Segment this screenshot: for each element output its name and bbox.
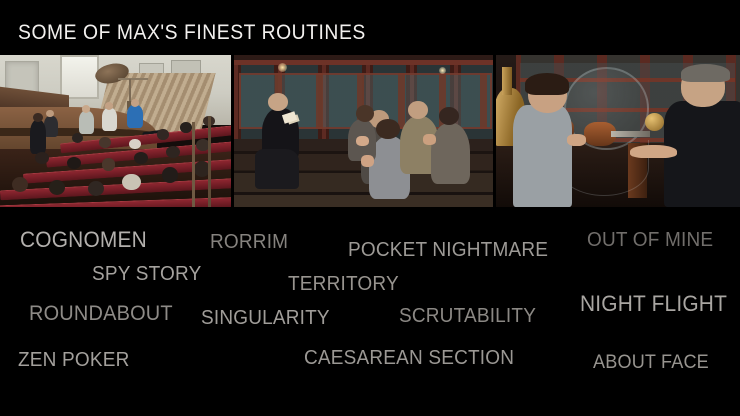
routine-label-zen-poker[interactable]: ZEN POKER: [18, 349, 130, 372]
audience-head: [102, 158, 116, 170]
routine-label-spy-story[interactable]: SPY STORY: [92, 263, 201, 286]
photo-strip: [0, 55, 740, 207]
clapping-hands: [423, 134, 436, 145]
audience-head: [129, 139, 141, 150]
page-title: SOME OF MAX'S FINEST ROUTINES: [18, 21, 366, 45]
routine-label-scrutability[interactable]: SCRUTABILITY: [399, 305, 536, 328]
routine-label-out-of-mine[interactable]: OUT OF MINE: [587, 229, 713, 252]
standing-presenter: [30, 120, 46, 153]
audience-head: [99, 137, 111, 148]
routine-label-about-face[interactable]: ABOUT FACE: [593, 352, 709, 374]
balcony-rail-2: [208, 116, 211, 207]
audience-head: [180, 122, 192, 133]
young-man-hand: [567, 134, 587, 146]
panellist-1-head: [82, 105, 90, 113]
young-man-body: [513, 105, 572, 207]
spectator-4-body: [431, 123, 470, 184]
ceiling-lamp-left: [278, 63, 287, 72]
routine-word-cloud: COGNOMEN RORRIM POCKET NIGHTMARE OUT OF …: [0, 207, 740, 416]
routine-label-cognomen[interactable]: COGNOMEN: [20, 227, 147, 253]
audience-head: [67, 157, 81, 169]
balcony-rail-1: [192, 122, 195, 207]
audience-head: [35, 152, 49, 164]
routine-label-night-flight[interactable]: NIGHT FLIGHT: [580, 291, 727, 317]
metal-shaft: [611, 131, 650, 137]
spectator-2-head: [376, 119, 399, 139]
apparatus-crossbar: [118, 78, 148, 80]
panellist-2-body: [102, 108, 117, 131]
spectator-5-head: [356, 105, 374, 122]
young-man-hair: [525, 73, 569, 94]
routine-label-territory[interactable]: TERRITORY: [288, 273, 399, 296]
panellist-2-head: [105, 102, 113, 110]
clapping-hands: [361, 155, 374, 167]
audience-head: [49, 180, 65, 195]
audience-head: [162, 167, 178, 182]
panellist-3-body: [127, 105, 143, 128]
routine-label-rorrim[interactable]: RORRIM: [210, 231, 288, 254]
audience-head: [157, 129, 169, 140]
audience-head: [122, 174, 140, 191]
routine-label-roundabout[interactable]: ROUNDABOUT: [29, 302, 173, 326]
theatre-window: [60, 55, 99, 99]
photo-card-performance-applause[interactable]: [234, 55, 493, 207]
routine-label-pocket-nightmare[interactable]: POCKET NIGHTMARE: [348, 239, 548, 262]
spectator-3-head: [408, 101, 429, 119]
slide-root: SOME OF MAX'S FINEST ROUTINES: [0, 0, 740, 416]
audience-head: [12, 177, 28, 192]
routine-label-singularity[interactable]: SINGULARITY: [201, 307, 330, 330]
ceiling-lamp-right: [439, 67, 446, 74]
panellist-3-head: [131, 99, 139, 107]
standing-presenter-head: [33, 113, 42, 122]
panellist-1-body: [79, 111, 94, 134]
routine-label-caesarean-section[interactable]: CAESAREAN SECTION: [304, 347, 514, 370]
spectator-4-head: [439, 107, 460, 125]
clapping-hands: [356, 136, 369, 147]
performer-legs: [255, 149, 299, 189]
photo-apparatus-demonstration[interactable]: [496, 55, 740, 207]
instructor-hair: [681, 64, 730, 82]
photo-lecture-theatre-audience[interactable]: [0, 55, 231, 207]
instructor-open-hand: [630, 145, 676, 159]
brass-vessel-neck: [502, 67, 512, 94]
